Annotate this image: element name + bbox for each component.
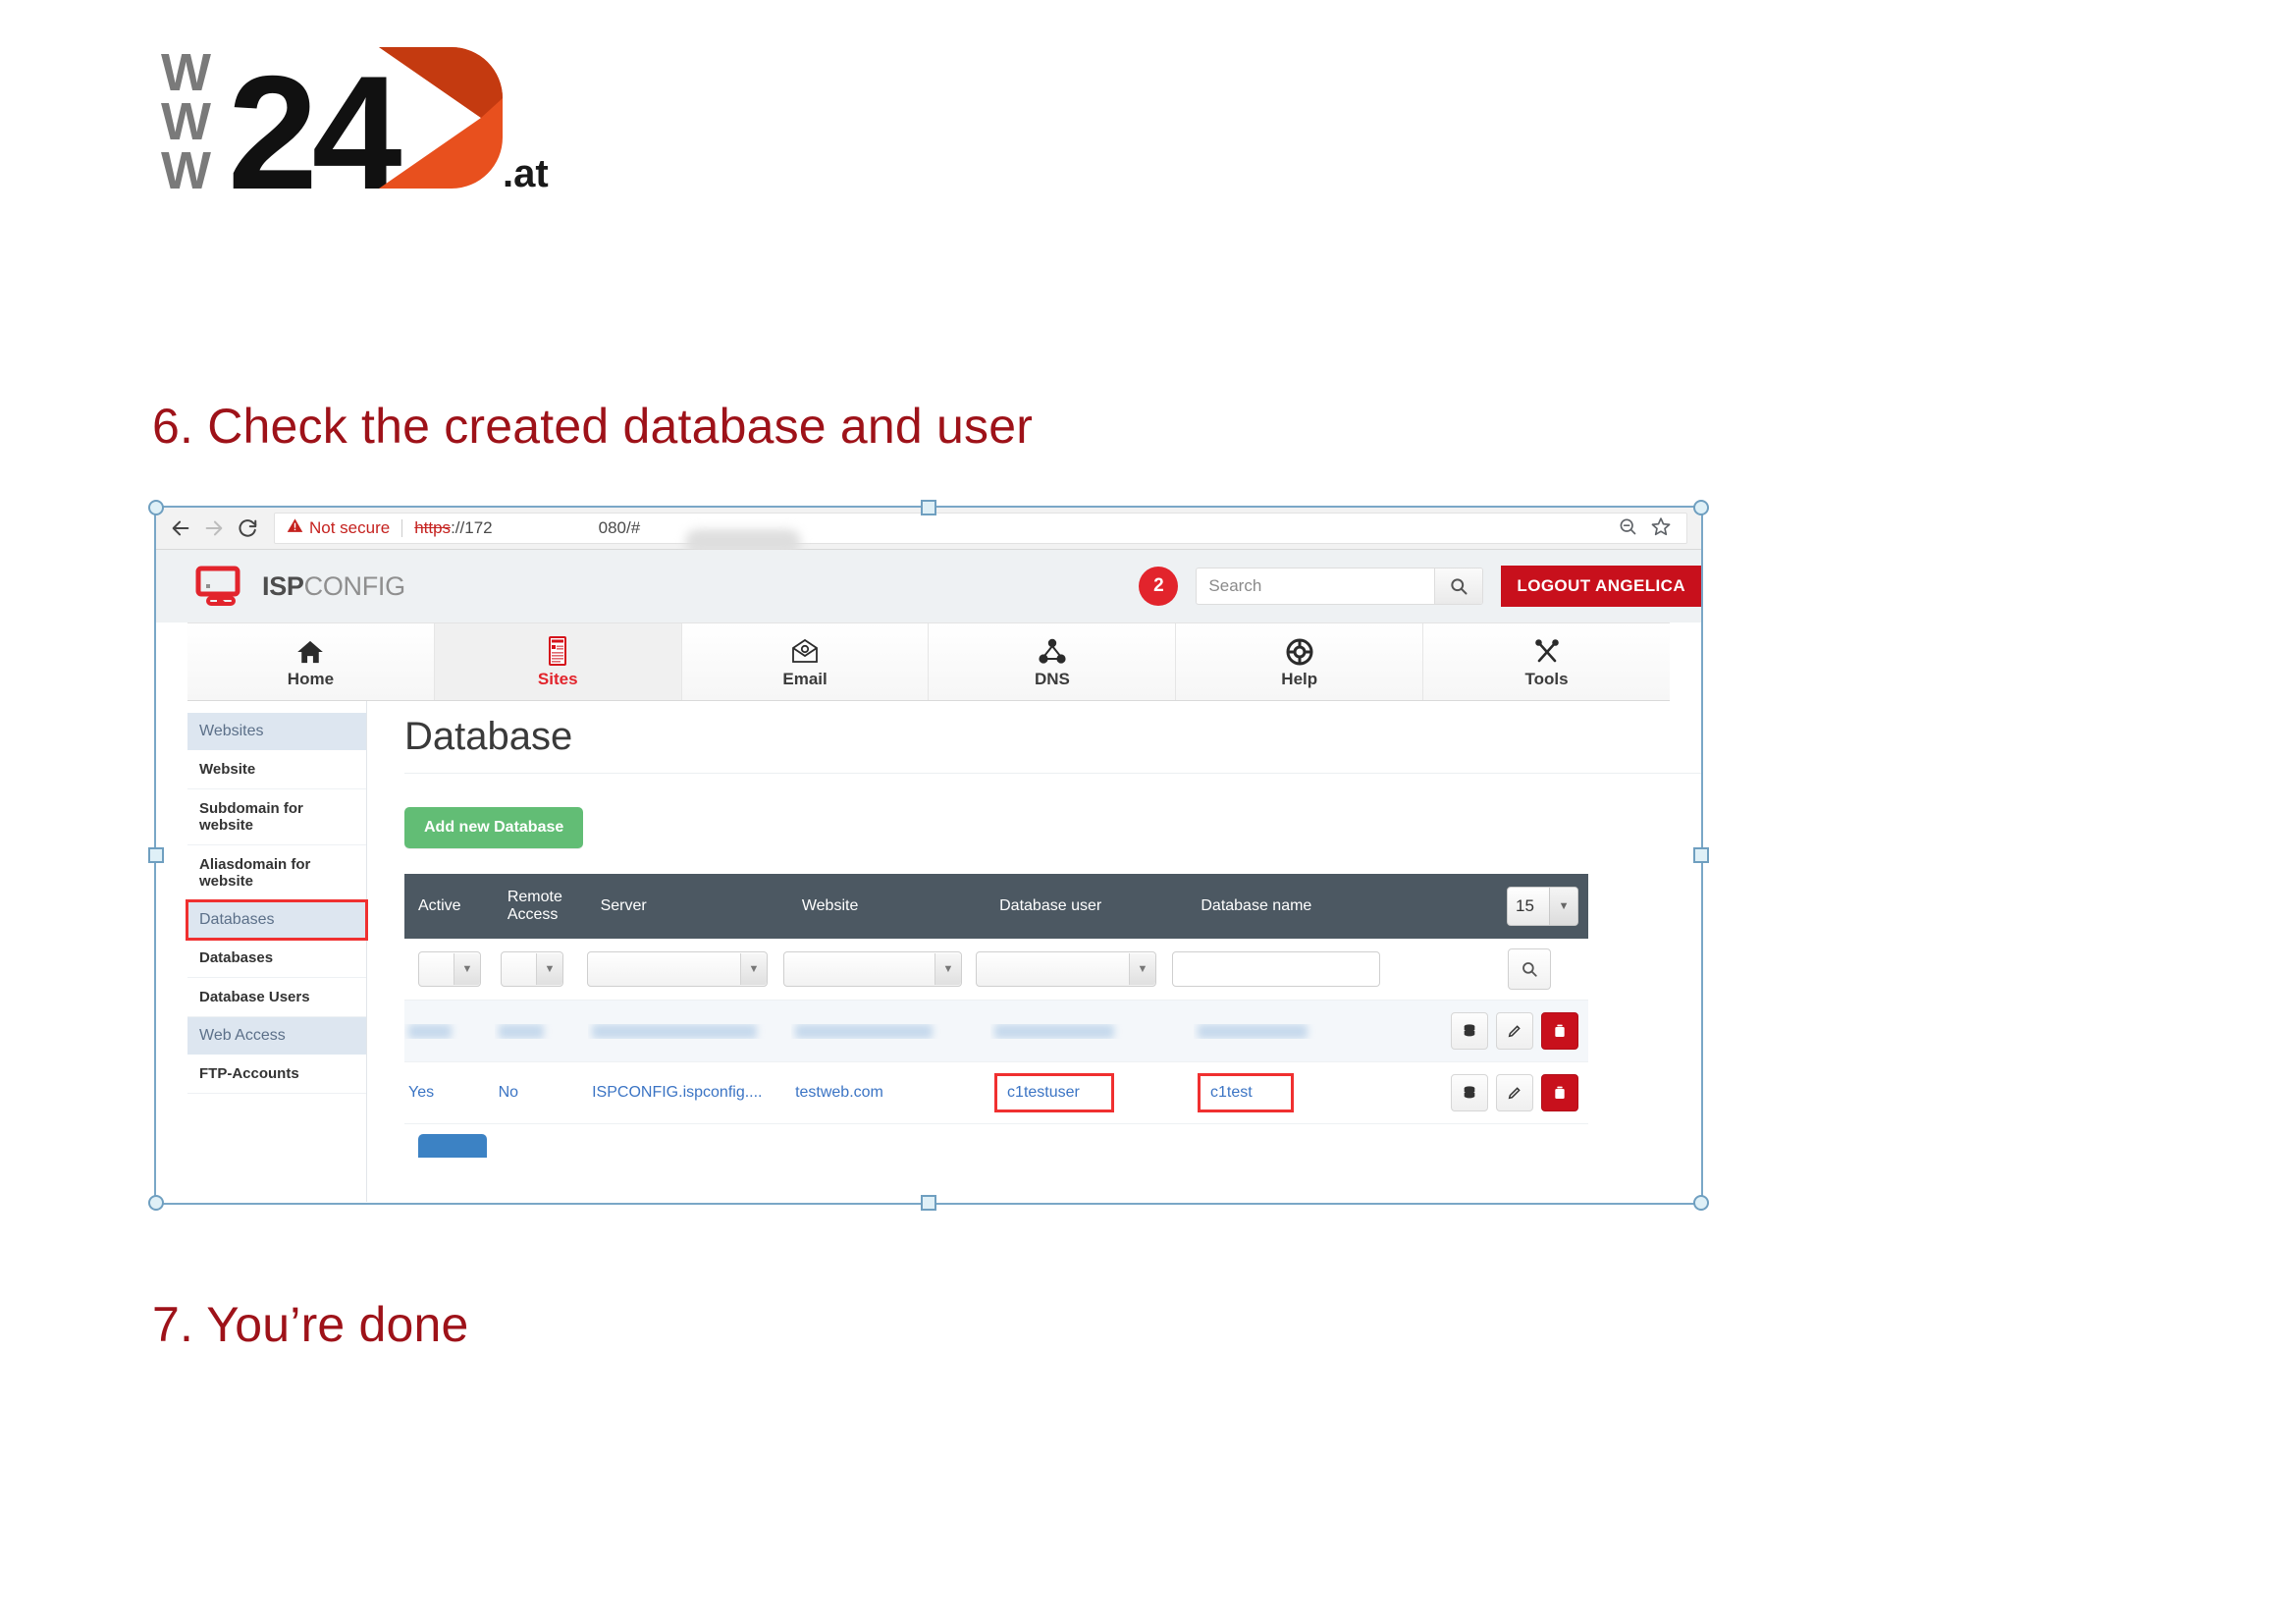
- resize-handle-top-right[interactable]: [1693, 500, 1709, 515]
- www24-logo: W W W 24 .at: [157, 29, 569, 206]
- resize-handle-top-left[interactable]: [148, 500, 164, 515]
- resize-handle-middle-left[interactable]: [148, 847, 164, 863]
- slide-heading-step-6: 6. Check the created database and user: [152, 398, 1033, 455]
- resize-handle-top-middle[interactable]: [921, 500, 936, 515]
- resize-handle-bottom-middle[interactable]: [921, 1195, 936, 1211]
- svg-text:24: 24: [228, 42, 401, 206]
- resize-handle-middle-right[interactable]: [1693, 847, 1709, 863]
- slide-heading-step-7: 7. You’re done: [152, 1296, 469, 1353]
- svg-text:.at: .at: [503, 152, 549, 195]
- resize-handle-bottom-right[interactable]: [1693, 1195, 1709, 1211]
- image-selection-frame: [154, 506, 1703, 1205]
- resize-handle-bottom-left[interactable]: [148, 1195, 164, 1211]
- sidebar-group-databases: Databases: [187, 901, 366, 939]
- svg-text:W: W: [161, 141, 211, 200]
